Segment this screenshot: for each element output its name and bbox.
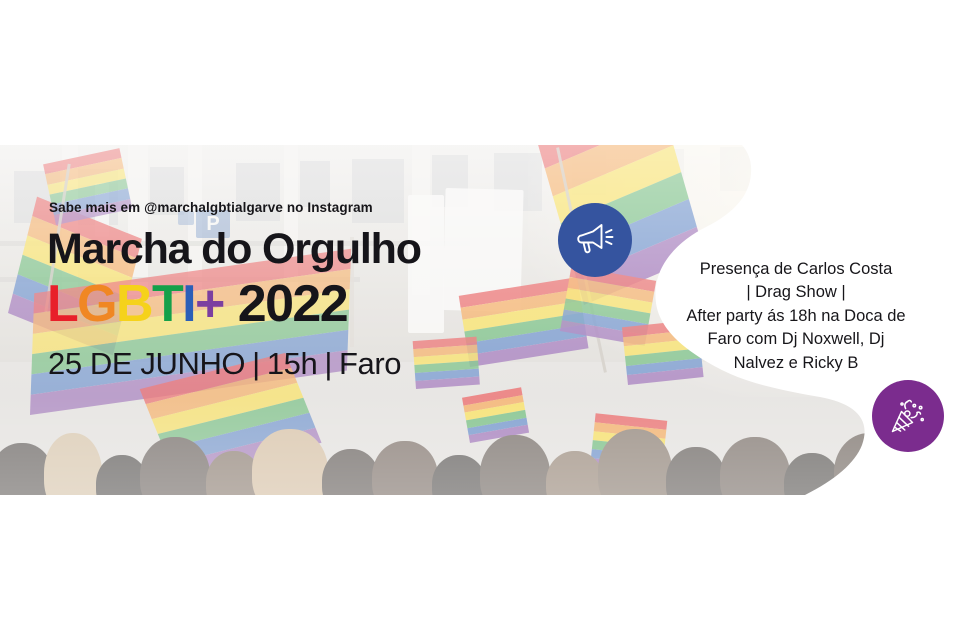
headline-block: Sabe mais em @marchalgbtialgarve no Inst…	[47, 200, 421, 379]
instagram-kicker: Sabe mais em @marchalgbtialgarve no Inst…	[49, 200, 421, 215]
acronym-letter-t: T	[152, 278, 182, 330]
event-year: 2022	[238, 275, 347, 333]
party-popper-icon	[887, 395, 929, 437]
lgbti-acronym: LGBTI+	[47, 275, 224, 333]
separator: |	[324, 346, 332, 381]
title-line-1: Marcha do Orgulho	[47, 228, 421, 271]
event-banner: P	[0, 145, 960, 495]
megaphone-badge	[558, 203, 632, 277]
acronym-letter-g: G	[77, 278, 116, 330]
separator: |	[252, 346, 260, 381]
event-time: 15h	[267, 346, 318, 381]
details-line: Nalvez e Ricky B	[650, 352, 942, 375]
event-details-line: 25 DE JUNHO|15h|Faro	[48, 348, 421, 379]
details-text-block: Presença de Carlos Costa| Drag Show |Aft…	[650, 258, 942, 375]
details-line: Presença de Carlos Costa	[650, 258, 942, 281]
acronym-letter-b: B	[116, 278, 152, 330]
megaphone-icon	[573, 218, 617, 262]
poster-page: P	[0, 0, 960, 640]
event-place: Faro	[339, 346, 401, 381]
party-popper-badge	[872, 380, 944, 452]
details-line: Faro com Dj Noxwell, Dj	[650, 328, 942, 351]
acronym-letter-i: I	[182, 278, 195, 330]
event-date: 25 DE JUNHO	[48, 346, 245, 381]
acronym-letter-l: L	[47, 278, 77, 330]
details-line: | Drag Show |	[650, 281, 942, 304]
details-line: After party ás 18h na Doca de	[650, 305, 942, 328]
acronym-letter-plus: +	[195, 278, 224, 330]
title-line-2: LGBTI+2022	[47, 278, 421, 330]
